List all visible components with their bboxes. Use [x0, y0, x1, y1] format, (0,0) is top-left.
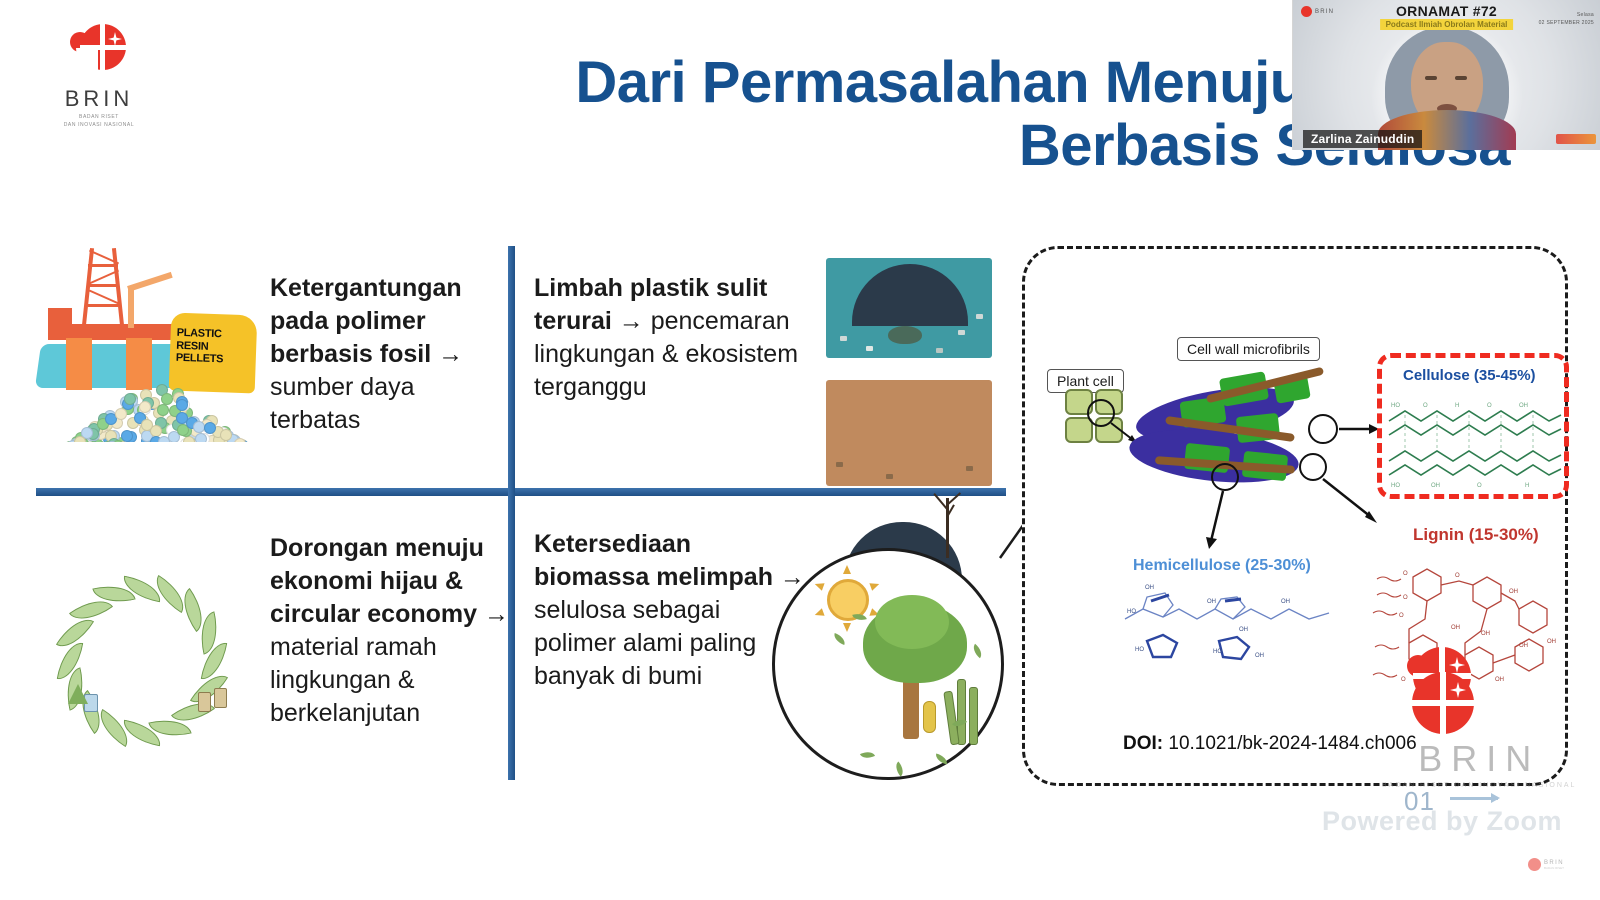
- quadrant-3-rest: material ramah lingkungan & berkelanjuta…: [270, 633, 437, 727]
- page-arrow-icon: [1450, 797, 1498, 800]
- quadrant-1-text: Ketergantungan pada polimer berbasis fos…: [270, 272, 495, 437]
- pellet: [195, 433, 207, 442]
- svg-text:OH: OH: [1431, 483, 1440, 489]
- microfibrils-tag: Cell wall microfibrils: [1177, 337, 1320, 361]
- quadrant-1-bold: Ketergantungan pada polimer berbasis fos…: [270, 274, 463, 368]
- video-badge: [1556, 134, 1596, 144]
- svg-text:O: O: [1401, 677, 1406, 683]
- hemicellulose-structure: OHHOOH OHOHOH HOHO: [1121, 579, 1341, 665]
- pellet: [176, 399, 188, 411]
- svg-text:OH: OH: [1281, 599, 1290, 605]
- quadrant-4-text: Ketersediaan biomassa melimpah → selulos…: [534, 528, 809, 693]
- svg-text:OH: OH: [1145, 585, 1154, 591]
- lignin-label: Lignin (15-30%): [1413, 525, 1539, 545]
- hemicellulose-arrow: [1201, 463, 1271, 553]
- pellet: [115, 408, 127, 420]
- svg-text:OH: OH: [1519, 643, 1528, 649]
- svg-text:OH: OH: [1547, 639, 1556, 645]
- svg-text:OH: OH: [1207, 599, 1216, 605]
- svg-text:OH: OH: [1255, 653, 1264, 659]
- brin-logo-subtitle: BADAN RISETDAN INOVASI NASIONAL: [44, 114, 154, 129]
- quadrant-2-text: Limbah plastik sulit terurai → pencemara…: [534, 272, 824, 404]
- brin-mark-icon: [70, 24, 128, 80]
- svg-text:HO: HO: [1213, 649, 1222, 655]
- brin-watermark: BRIN BADAN RISET DAN INOVASI NASIONAL: [1382, 738, 1576, 789]
- pellet: [158, 436, 170, 442]
- svg-text:O: O: [1403, 571, 1408, 577]
- oil-rig-illustration: PLASTIC RESIN PELLETS: [20, 244, 268, 444]
- quadrant-3-text: Dorongan menuju ekonomi hijau & circular…: [270, 532, 510, 730]
- brin-logo-word: BRIN: [44, 86, 154, 112]
- biomass-illustration: [772, 548, 1004, 780]
- svg-text:H: H: [1455, 403, 1459, 409]
- svg-text:HO: HO: [1127, 609, 1136, 615]
- cellulose-structure: HOOH OOH HOOHOH: [1385, 391, 1565, 491]
- video-header: BRIN ORNAMAT #72 Podcast Ilmiah Obrolan …: [1293, 0, 1600, 30]
- corn-icon: [923, 701, 936, 733]
- svg-text:OH: OH: [1509, 589, 1518, 595]
- cellulose-label: Cellulose (35-45%): [1403, 367, 1536, 384]
- hemicellulose-label: Hemicellulose (25-30%): [1133, 557, 1311, 575]
- svg-text:H: H: [1525, 483, 1529, 489]
- cellulose-structure-panel: Plant cell Cell wall microfibrils: [1022, 246, 1568, 786]
- svg-text:HO: HO: [1135, 647, 1144, 653]
- land-pollution-image: [826, 380, 992, 486]
- brin-watermark-icon: [1412, 672, 1474, 734]
- speaker-name-label: Zarlina Zainuddin: [1303, 130, 1422, 148]
- svg-text:O: O: [1477, 483, 1482, 489]
- corner-logo-sub: BADAN RISET: [1544, 866, 1564, 870]
- cellulose-arrow: [1307, 409, 1387, 449]
- svg-text:HO: HO: [1391, 483, 1400, 489]
- video-date-value: 02 SEPTEMBER 2025: [1539, 20, 1594, 28]
- video-date: Selasa 02 SEPTEMBER 2025: [1539, 12, 1594, 27]
- bag-label: PLASTIC RESIN PELLETS: [176, 327, 253, 368]
- pellet: [141, 419, 153, 431]
- pellet: [74, 436, 86, 442]
- derrick-icon: [84, 248, 124, 326]
- doi-label: DOI:: [1123, 733, 1163, 754]
- pellet: [204, 422, 216, 434]
- svg-text:O: O: [1399, 613, 1404, 619]
- plastic-waste-illustration: [826, 258, 992, 486]
- doi-value: 10.1021/bk-2024-1484.ch006: [1163, 733, 1417, 754]
- corner-brin-logo: BRIN BADAN RISET: [1528, 858, 1564, 871]
- lignin-arrow: [1297, 453, 1387, 533]
- horizontal-divider: [36, 488, 1006, 496]
- svg-text:O: O: [1423, 403, 1428, 409]
- slide-title-line-1: Dari Permasalahan Menuju: [575, 50, 1304, 115]
- svg-text:O: O: [1403, 595, 1408, 601]
- video-day: Selasa: [1539, 12, 1594, 20]
- svg-text:O: O: [1487, 403, 1492, 409]
- svg-text:HO: HO: [1391, 403, 1400, 409]
- jar-icon: [198, 692, 211, 712]
- svg-text:OH: OH: [1451, 625, 1460, 631]
- corner-logo-word: BRIN: [1544, 860, 1564, 866]
- brin-logo: BRIN BADAN RISETDAN INOVASI NASIONAL: [44, 24, 154, 124]
- pellet: [157, 404, 169, 416]
- pellet: [234, 438, 246, 442]
- svg-text:OH: OH: [1519, 403, 1528, 409]
- jar-icon: [214, 688, 227, 708]
- svg-text:OH: OH: [1481, 631, 1490, 637]
- svg-text:OH: OH: [1239, 627, 1248, 633]
- ocean-pollution-image: [826, 258, 992, 358]
- quadrant-1-rest: sumber daya terbatas: [270, 373, 415, 434]
- small-tree-icon: [68, 684, 88, 704]
- pellet: [124, 393, 136, 405]
- doi-citation: DOI: 10.1021/bk-2024-1484.ch006: [1123, 733, 1417, 755]
- video-subtitle: Podcast Ilmiah Obrolan Material: [1380, 19, 1514, 30]
- quadrant-4-bold: Ketersediaan biomassa melimpah: [534, 530, 773, 591]
- circular-economy-illustration: [32, 566, 264, 756]
- quadrant-3-bold: Dorongan menuju ekonomi hijau & circular…: [270, 534, 509, 628]
- svg-text:OH: OH: [1495, 677, 1504, 683]
- zoom-watermark: Powered by Zoom: [1322, 806, 1562, 837]
- zoom-video-overlay[interactable]: BRIN ORNAMAT #72 Podcast Ilmiah Obrolan …: [1292, 0, 1600, 150]
- presentation-slide: BRIN BADAN RISETDAN INOVASI NASIONAL Dar…: [0, 0, 1600, 900]
- brin-watermark-word: BRIN: [1382, 738, 1576, 780]
- svg-text:O: O: [1455, 573, 1460, 579]
